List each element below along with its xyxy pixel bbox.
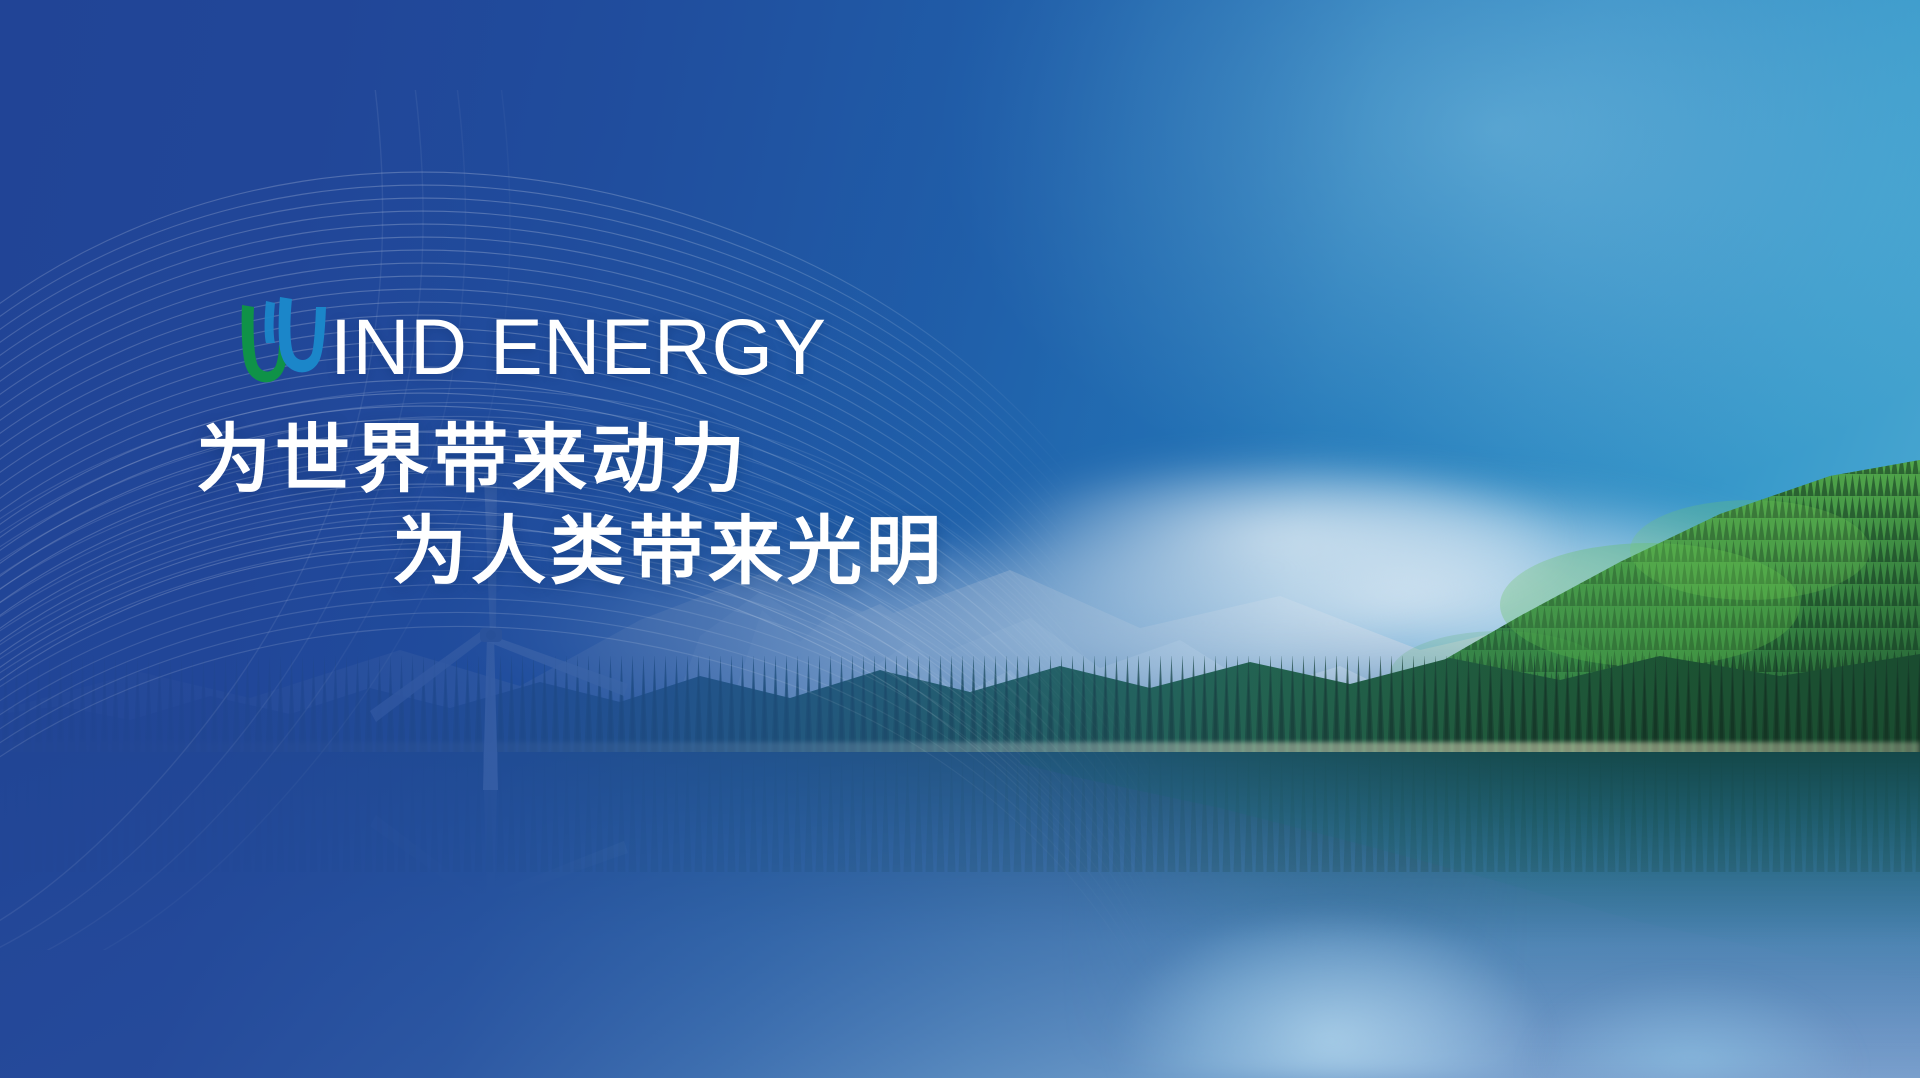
banner-content: IND ENERGY 为世界带来动力 为人类带来光明: [0, 0, 1920, 1078]
hero-banner: IND ENERGY 为世界带来动力 为人类带来光明: [0, 0, 1920, 1078]
slogan-block: 为世界带来动力 为人类带来光明: [196, 414, 1396, 597]
slogan-line-2: 为人类带来光明: [196, 506, 1396, 598]
wind-w-logo-icon: [232, 295, 336, 391]
brand-lockup: IND ENERGY: [232, 295, 827, 391]
slogan-line-1: 为世界带来动力: [196, 414, 1396, 506]
brand-wordmark: IND ENERGY: [330, 307, 827, 386]
